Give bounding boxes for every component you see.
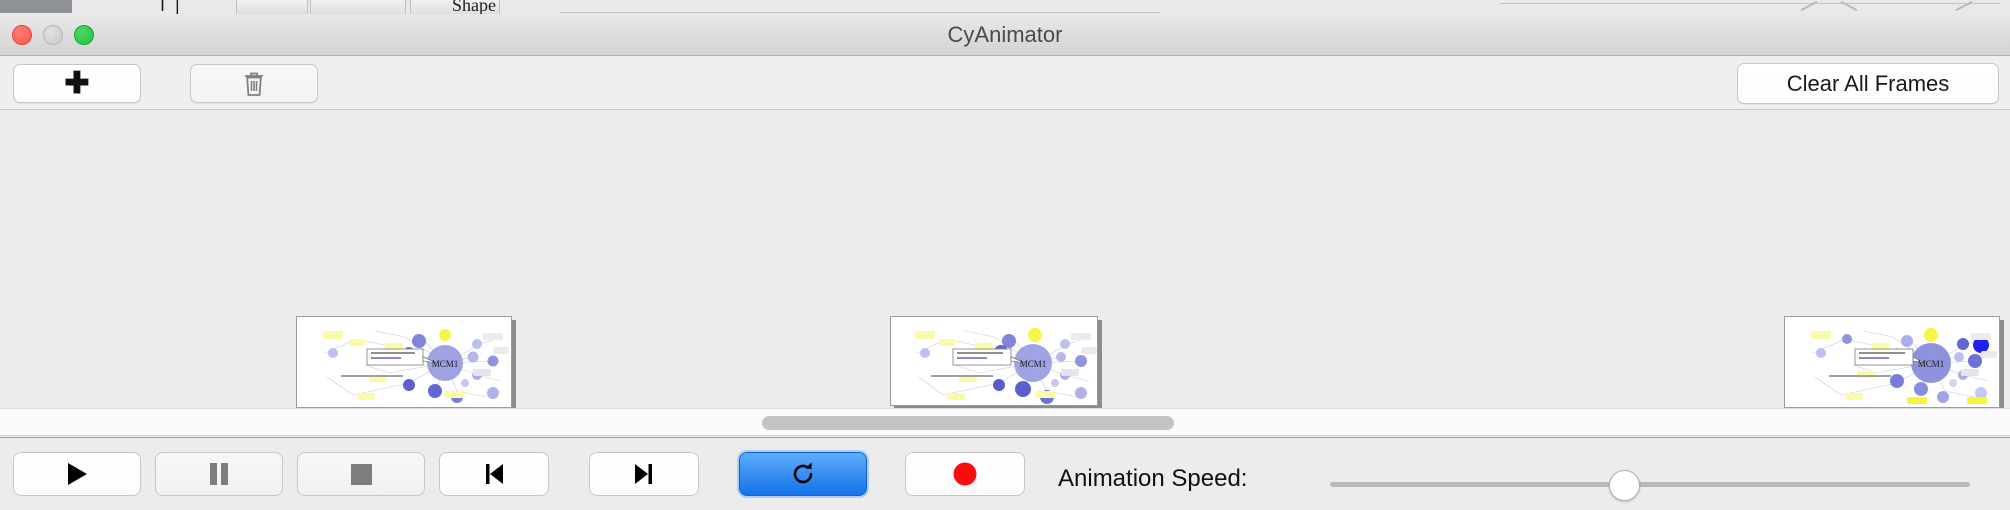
delete-frame-button[interactable]	[190, 64, 318, 103]
background-partial-label: Shape	[452, 0, 496, 14]
maximize-button[interactable]	[74, 25, 94, 45]
clear-all-frames-button[interactable]: Clear All Frames	[1737, 63, 1999, 104]
background-divider	[560, 12, 1160, 13]
record-icon	[952, 461, 978, 487]
animation-speed-slider[interactable]	[1330, 482, 1970, 487]
plus-icon: ✚	[64, 69, 89, 99]
background-divider	[1500, 3, 2000, 4]
stop-icon	[350, 463, 373, 486]
scrollbar-thumb[interactable]	[762, 416, 1174, 430]
play-icon	[65, 461, 89, 487]
loop-refresh-icon	[789, 460, 817, 488]
skip-forward-button[interactable]	[589, 452, 699, 496]
background-tab	[236, 0, 308, 14]
traffic-lights	[12, 25, 94, 45]
window-titlebar: CyAnimator	[0, 14, 2010, 56]
background-glyphs: I |	[160, 0, 180, 14]
loop-button[interactable]	[739, 452, 867, 496]
playback-control-bar: Animation Speed:	[0, 437, 2010, 510]
clear-all-frames-label: Clear All Frames	[1787, 71, 1950, 97]
background-windows: Shape I |	[0, 0, 2010, 14]
pause-icon	[207, 461, 231, 487]
add-frame-button[interactable]: ✚	[13, 64, 141, 103]
record-button[interactable]	[905, 452, 1025, 496]
trash-icon	[242, 70, 266, 97]
toolbar: ✚ Clear All Frames	[0, 56, 2010, 110]
animation-speed-slider-thumb[interactable]	[1609, 470, 1640, 501]
background-window-chrome	[0, 0, 72, 13]
frame-track[interactable]: MCM1	[0, 110, 2010, 302]
pause-button[interactable]	[155, 452, 283, 496]
background-tab	[310, 0, 406, 14]
skip-back-button[interactable]	[439, 452, 549, 496]
skip-back-icon	[481, 461, 507, 487]
stop-button[interactable]	[297, 452, 425, 496]
play-button[interactable]	[13, 452, 141, 496]
skip-forward-icon	[631, 461, 657, 487]
minimize-button[interactable]	[43, 25, 63, 45]
animation-speed-label: Animation Speed:	[1058, 465, 1247, 493]
timeline-panel[interactable]: MCM1	[0, 110, 2010, 408]
close-button[interactable]	[12, 25, 32, 45]
horizontal-scrollbar[interactable]	[0, 408, 2010, 436]
timeline-ruler[interactable]: 2 13 14 15 16 17 18	[0, 302, 2010, 376]
page-title: CyAnimator	[0, 14, 2010, 56]
